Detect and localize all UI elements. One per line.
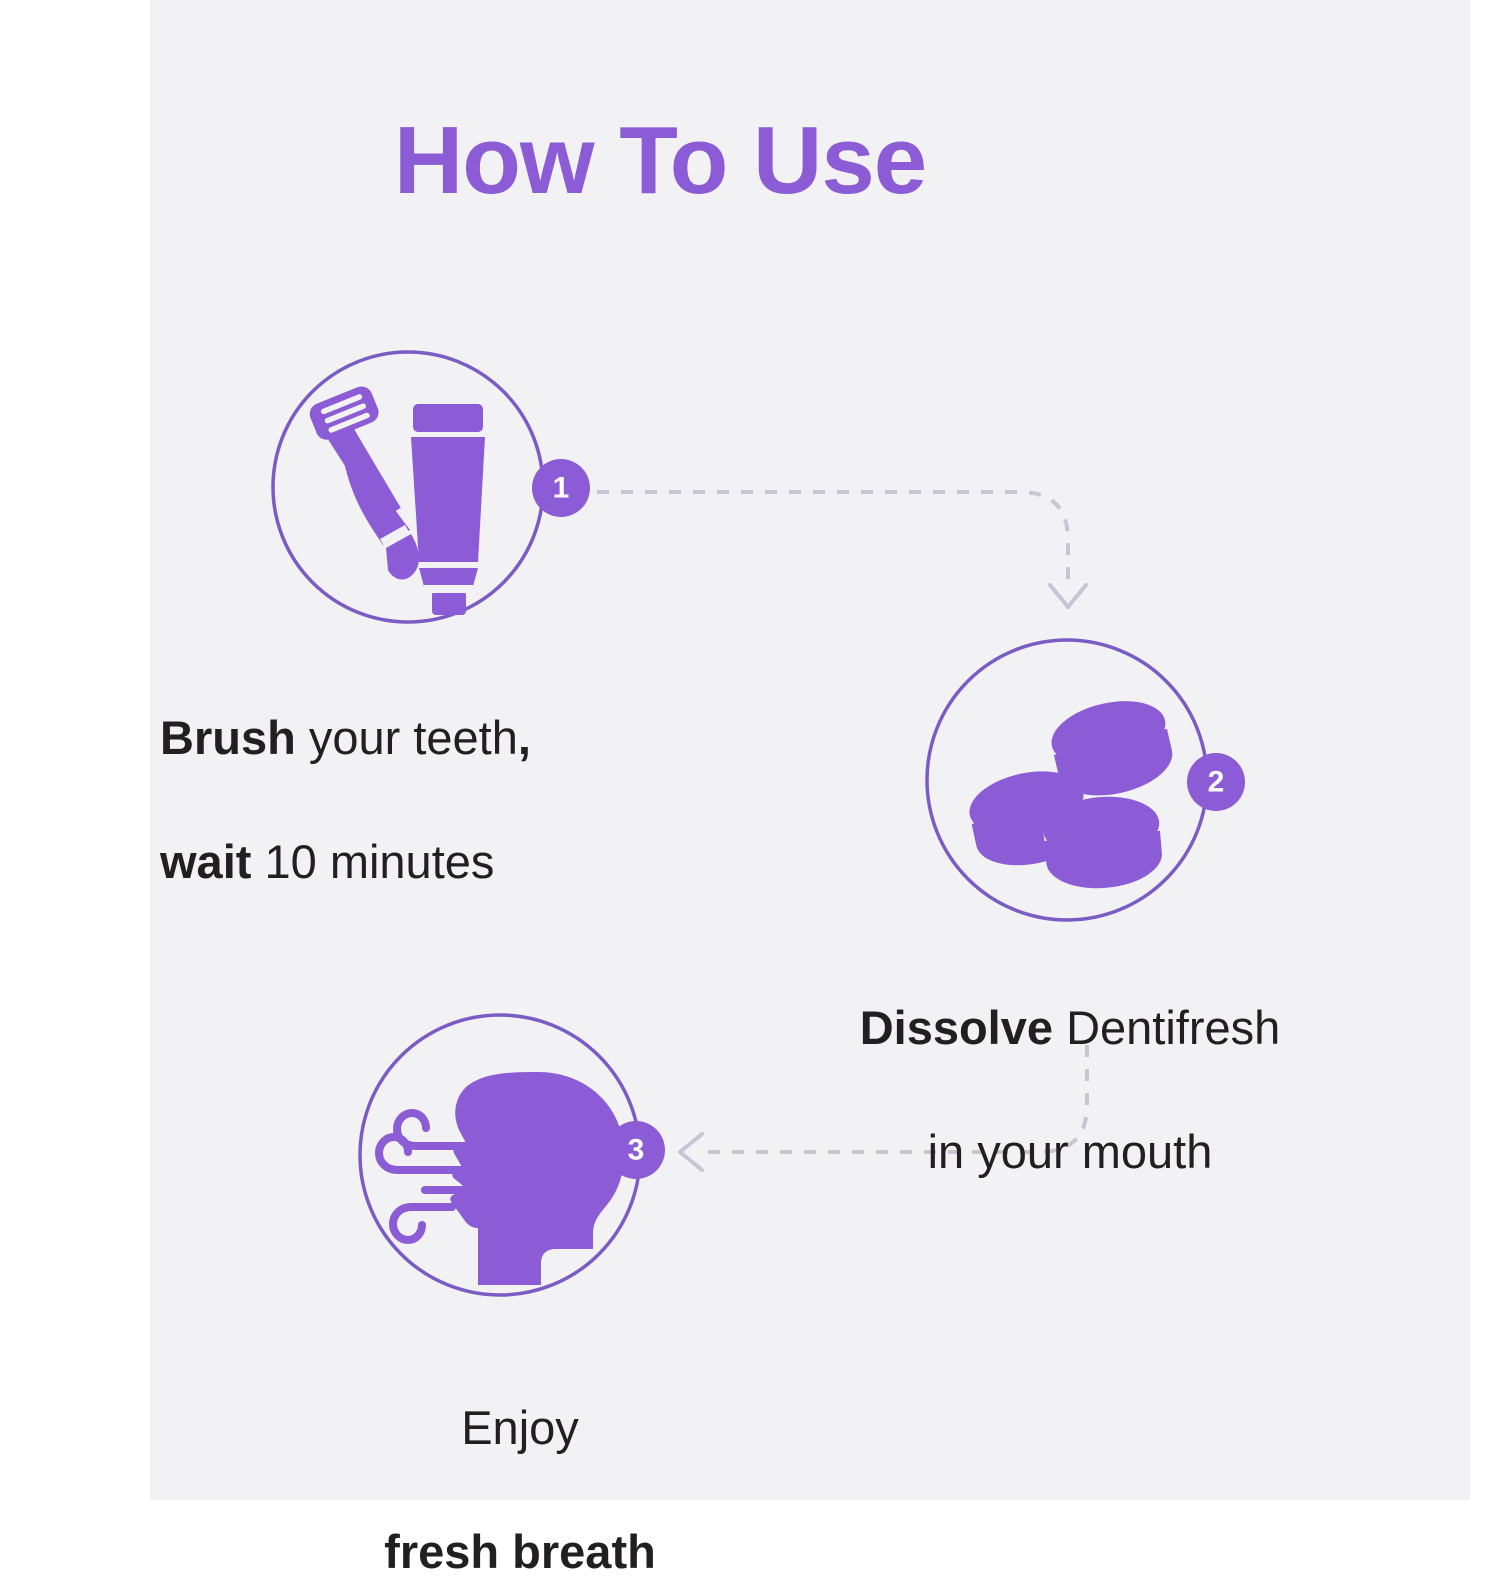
arrowhead-left-icon	[680, 1134, 702, 1170]
connector-step1-to-step2	[597, 492, 1086, 607]
step-1-caption-bold-2: wait	[160, 835, 251, 888]
step-3-caption-rest-1: Enjoy	[461, 1401, 579, 1454]
step-3-caption-bold-2: fresh breath	[384, 1525, 656, 1578]
step-1-caption-bold-1: Brush	[160, 711, 296, 764]
step-2-badge: 2	[1187, 753, 1245, 811]
step-3-group[interactable]: 3	[360, 1015, 665, 1295]
step-1-badge: 1	[532, 459, 590, 517]
step-2-caption-rest-1: Dentifresh	[1053, 1001, 1280, 1054]
arrowhead-down-icon	[1050, 585, 1086, 607]
step-3-badge: 3	[607, 1121, 665, 1179]
tablets-icon	[964, 691, 1179, 893]
step-2-caption-bold-1: Dissolve	[860, 1001, 1053, 1054]
step-1-caption-comma: ,	[518, 711, 531, 764]
step-1-caption: Brush your teeth, wait 10 minutes	[160, 645, 680, 893]
step-1-caption-rest-2: 10 minutes	[251, 835, 494, 888]
step-1-group[interactable]: 1	[273, 352, 590, 622]
step-2-group[interactable]: 2	[927, 640, 1245, 920]
infographic-canvas: How To Use	[0, 0, 1500, 1500]
toothbrush-toothpaste-icon	[306, 383, 485, 615]
step-1-caption-rest-1: your teeth	[296, 711, 518, 764]
step-1-number: 1	[553, 472, 570, 505]
step-1-ring	[273, 352, 543, 622]
step-2-number: 2	[1208, 766, 1225, 799]
step-3-number: 3	[628, 1134, 645, 1167]
step-2-caption: Dissolve Dentifresh in your mouth	[790, 935, 1350, 1183]
step-2-caption-rest-2: in your mouth	[928, 1125, 1213, 1178]
step-3-caption: Enjoy fresh breath	[250, 1335, 790, 1583]
